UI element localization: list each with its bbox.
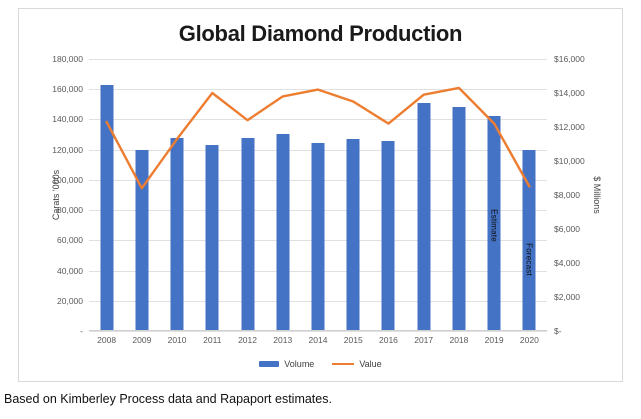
x-tick-label: 2008 <box>97 335 116 345</box>
y-tick-label-left: 20,000 <box>57 296 83 306</box>
x-tick-label: 2011 <box>203 335 221 345</box>
chart-title: Global Diamond Production <box>19 21 622 47</box>
x-tick-label: 2015 <box>344 335 363 345</box>
y-tick-label-left: 180,000 <box>52 54 83 64</box>
y-tick-label-right: $8,000 <box>554 190 580 200</box>
y-tick-label-right: $- <box>554 326 562 336</box>
line-swatch-icon <box>332 363 354 366</box>
y-tick-label-left: 120,000 <box>52 145 83 155</box>
y-tick-label-left: 140,000 <box>52 114 83 124</box>
x-tick-label: 2017 <box>414 335 433 345</box>
gridline <box>89 331 547 332</box>
y-tick-label-left: - <box>80 326 83 336</box>
y-tick-label-right: $6,000 <box>554 224 580 234</box>
legend-label-value: Value <box>359 359 381 369</box>
chart-legend: Volume Value <box>19 359 622 369</box>
y-tick-label-right: $12,000 <box>554 122 585 132</box>
y-tick-label-right: $16,000 <box>554 54 585 64</box>
x-tick-label: 2018 <box>449 335 468 345</box>
y-axis-title-right: $ Millions <box>592 176 602 214</box>
x-axis-ticks: 2008200920102011201220132014201520162017… <box>89 335 547 351</box>
legend-label-volume: Volume <box>284 359 314 369</box>
x-tick-label: 2009 <box>132 335 151 345</box>
plot-area: -20,00040,00060,00080,000100,000120,0001… <box>89 59 547 331</box>
y-tick-label-left: 80,000 <box>57 205 83 215</box>
x-tick-label: 2020 <box>520 335 539 345</box>
x-tick-label: 2019 <box>485 335 504 345</box>
y-tick-label-left: 100,000 <box>52 175 83 185</box>
y-tick-label-right: $14,000 <box>554 88 585 98</box>
legend-item-volume[interactable]: Volume <box>259 359 314 369</box>
y-tick-label-right: $4,000 <box>554 258 580 268</box>
x-tick-label: 2014 <box>309 335 328 345</box>
y-tick-label-left: 160,000 <box>52 84 83 94</box>
x-tick-label: 2013 <box>273 335 292 345</box>
chart-container: Global Diamond Production Carats '000s $… <box>18 8 623 382</box>
x-axis-line <box>89 330 547 331</box>
x-tick-label: 2010 <box>168 335 187 345</box>
x-tick-label: 2012 <box>238 335 257 345</box>
legend-item-value[interactable]: Value <box>332 359 381 369</box>
y-tick-label-right: $10,000 <box>554 156 585 166</box>
y-tick-label-right: $2,000 <box>554 292 580 302</box>
screenshot-root: Global Diamond Production Carats '000s $… <box>0 0 641 419</box>
value-line-path <box>107 88 530 188</box>
bar-swatch-icon <box>259 361 279 367</box>
line-series-value <box>89 59 547 331</box>
x-tick-label: 2016 <box>379 335 398 345</box>
caption-text: Based on Kimberley Process data and Rapa… <box>4 392 332 406</box>
y-tick-label-left: 40,000 <box>57 266 83 276</box>
y-tick-label-left: 60,000 <box>57 235 83 245</box>
